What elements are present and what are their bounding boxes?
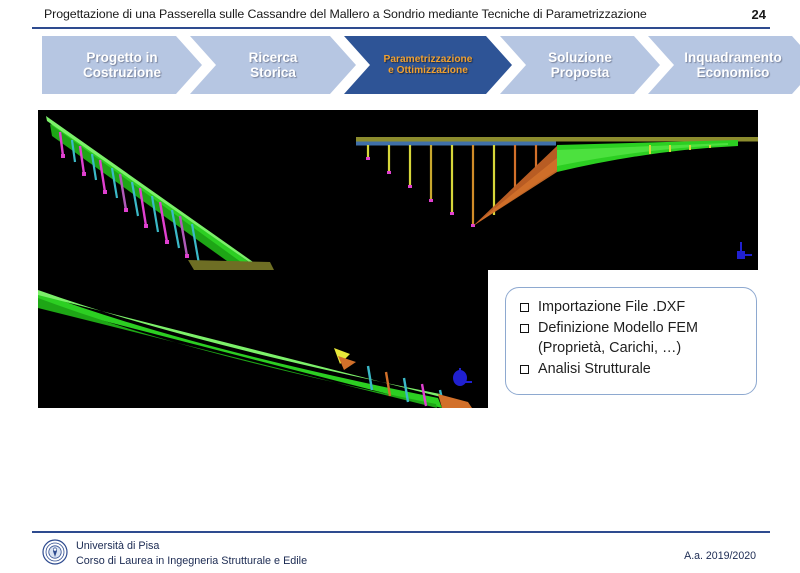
- nav-step-label: Soluzione Proposta: [542, 50, 618, 80]
- list-item-continuation: (Proprietà, Carichi, …): [520, 338, 746, 359]
- nav-step-label: Inquadramento Economico: [678, 50, 788, 80]
- nav-step-soluzione-proposta[interactable]: Soluzione Proposta: [500, 36, 660, 94]
- university-seal-icon: [42, 539, 68, 565]
- nav-step-ricerca-storica[interactable]: Ricerca Storica: [190, 36, 356, 94]
- footer-academic-year: A.a. 2019/2020: [684, 550, 756, 562]
- list-item-label: Importazione File .DXF: [538, 297, 685, 318]
- list-item: Importazione File .DXF: [520, 297, 746, 318]
- fem-viewport-upper: [38, 110, 758, 270]
- callout-box: Importazione File .DXF Definizione Model…: [505, 287, 757, 395]
- fem-model-graphics-lower: [38, 270, 488, 408]
- checkbox-empty-icon: [520, 324, 529, 333]
- footer-text: Università di Pisa Corso di Laurea in In…: [76, 539, 307, 570]
- checkbox-empty-icon: [520, 303, 529, 312]
- title-divider: [32, 27, 770, 29]
- footer-course: Corso di Laurea in Ingegneria Struttural…: [76, 554, 307, 569]
- progress-chevron-nav: Progetto in Costruzione Ricerca Storica …: [42, 36, 754, 94]
- page-title: Progettazione di una Passerella sulle Ca…: [44, 7, 734, 21]
- list-item-label: Definizione Modello FEM: [538, 318, 698, 339]
- workflow-row: .Gh: [0, 415, 800, 525]
- checkbox-empty-icon: [520, 365, 529, 374]
- list-item: Definizione Modello FEM: [520, 318, 746, 339]
- footer-university: Università di Pisa: [76, 539, 307, 554]
- nav-step-inquadramento-economico[interactable]: Inquadramento Economico: [648, 36, 800, 94]
- fem-model-graphics-upper: [38, 110, 758, 270]
- slide: Progettazione di una Passerella sulle Ca…: [0, 0, 800, 573]
- list-item-label: Analisi Strutturale: [538, 359, 651, 380]
- nav-step-progetto-in-costruzione[interactable]: Progetto in Costruzione: [42, 36, 202, 94]
- nav-step-parametrizzazione-e-ottimizzazione[interactable]: Parametrizzazione e Ottimizzazione: [344, 36, 512, 94]
- list-item: Analisi Strutturale: [520, 359, 746, 380]
- nav-step-label-active: Parametrizzazione e Ottimizzazione: [378, 54, 479, 77]
- nav-step-label: Ricerca Storica: [243, 50, 304, 80]
- page-number: 24: [752, 7, 766, 22]
- fem-viewport-lower: [38, 270, 488, 408]
- nav-step-label: Progetto in Costruzione: [77, 50, 167, 80]
- footer-divider: [32, 531, 770, 533]
